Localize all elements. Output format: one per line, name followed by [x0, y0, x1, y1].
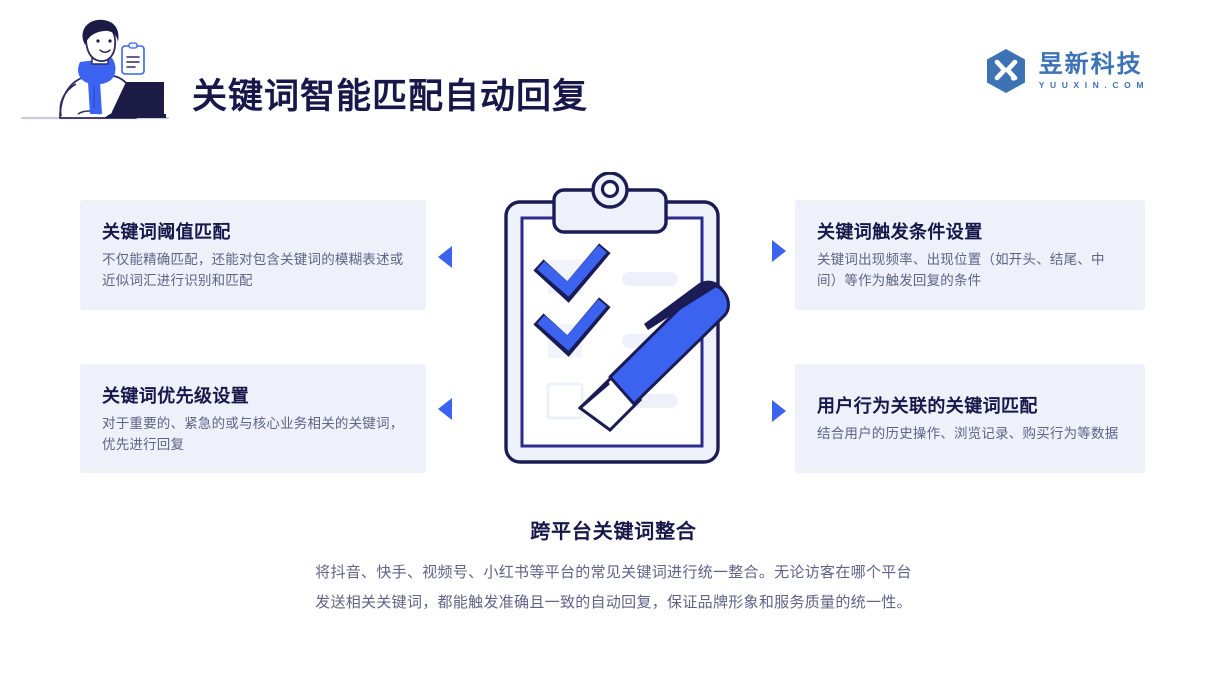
footer-line-2: 发送相关关键词，都能触发准确且一致的自动回复，保证品牌形象和服务质量的统一性。 — [0, 588, 1227, 618]
card-body: 不仅能精确匹配，还能对包含关键词的模糊表述或近似词汇进行识别和匹配 — [102, 250, 404, 292]
feature-card-keyword-trigger-condition-setting[interactable]: 关键词触发条件设置 关键词出现频率、出现位置（如开头、结尾、中间）等作为触发回复… — [795, 200, 1145, 310]
document-icon — [122, 43, 144, 74]
arrow-right-icon — [772, 240, 786, 262]
card-body: 关键词出现频率、出现位置（如开头、结尾、中间）等作为触发回复的条件 — [817, 250, 1123, 292]
card-title: 关键词阈值匹配 — [102, 218, 404, 244]
arrow-left-icon — [438, 246, 452, 268]
person-at-laptop-illustration — [18, 18, 178, 130]
footer-section: 跨平台关键词整合 将抖音、快手、视频号、小红书等平台的常见关键词进行统一整合。无… — [0, 515, 1227, 618]
arrow-left-icon — [438, 398, 452, 420]
footer-title: 跨平台关键词整合 — [0, 515, 1227, 544]
brand-domain: YUUXIN.COM — [1039, 81, 1149, 90]
footer-line-1: 将抖音、快手、视频号、小红书等平台的常见关键词进行统一整合。无论访客在哪个平台 — [0, 558, 1227, 588]
feature-card-user-behavior-keyword-matching[interactable]: 用户行为关联的关键词匹配 结合用户的历史操作、浏览记录、购买行为等数据 — [795, 364, 1145, 473]
clipboard-checklist-with-pen-illustration — [492, 172, 746, 478]
page-header: 关键词智能匹配自动回复 昱新科技 YUUXIN.COM — [0, 0, 1227, 150]
brand-wordmark: 昱新科技 YUUXIN.COM — [1039, 53, 1149, 90]
checkbox-3 — [548, 384, 582, 418]
feature-card-keyword-threshold-matching[interactable]: 关键词阈值匹配 不仅能精确匹配，还能对包含关键词的模糊表述或近似词汇进行识别和匹… — [80, 200, 426, 310]
brand-logo: 昱新科技 YUUXIN.COM — [984, 48, 1149, 94]
card-body: 结合用户的历史操作、浏览记录、购买行为等数据 — [817, 424, 1123, 445]
card-title: 关键词优先级设置 — [102, 382, 404, 408]
card-body: 对于重要的、紧急的或与核心业务相关的关键词，优先进行回复 — [102, 414, 404, 456]
arrow-right-icon — [772, 400, 786, 422]
card-title: 用户行为关联的关键词匹配 — [817, 392, 1123, 418]
page-title: 关键词智能匹配自动回复 — [192, 68, 588, 119]
brand-name: 昱新科技 — [1039, 53, 1149, 77]
feature-card-keyword-priority-setting[interactable]: 关键词优先级设置 对于重要的、紧急的或与核心业务相关的关键词，优先进行回复 — [80, 364, 426, 473]
brand-mark-hexagon-icon — [984, 48, 1028, 94]
card-title: 关键词触发条件设置 — [817, 218, 1123, 244]
